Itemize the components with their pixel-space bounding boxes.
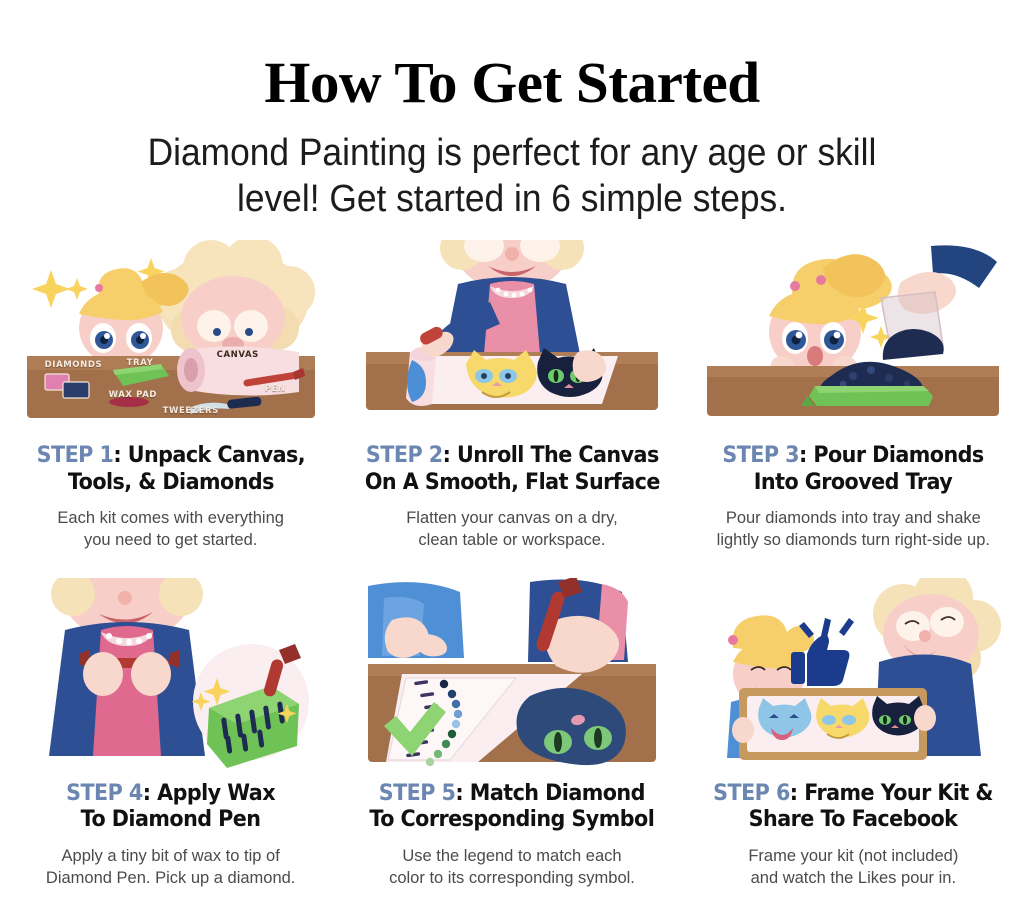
step-5-desc-line-1: Use the legend to match each xyxy=(402,847,621,865)
step-4-desc-line-1: Apply a tiny bit of wax to tip of xyxy=(62,847,280,865)
step-5-desc-line-2: color to its corresponding symbol. xyxy=(389,869,635,887)
step-2-number: STEP 2 xyxy=(366,442,443,468)
label-tray: TRAY xyxy=(127,358,154,368)
step-card-6: STEP 6: Frame Your Kit & Share To Facebo… xyxy=(683,574,1024,890)
step-6-desc-line-1: Frame your kit (not included) xyxy=(748,847,958,865)
step-2-scene xyxy=(362,240,662,432)
step-4-title: STEP 4: Apply Wax To Diamond Pen xyxy=(66,780,275,833)
step-card-3: STEP 3: Pour Diamonds Into Grooved Tray … xyxy=(683,236,1024,552)
step-5-separator: : xyxy=(456,780,464,806)
step-1-desc-line-1: Each kit comes with everything xyxy=(57,509,284,527)
step-4-title-line-1: Apply Wax xyxy=(157,780,275,806)
steps-grid: DIAMONDS TRAY WAX PAD TWEEZERS CANVAS PE… xyxy=(0,236,1024,889)
step-5-number: STEP 5 xyxy=(379,780,456,806)
step-4-separator: : xyxy=(143,780,151,806)
step-6-title-line-2: Share To Facebook xyxy=(749,806,958,832)
step-1-desc-line-2: you need to get started. xyxy=(84,531,257,549)
step-5-scene xyxy=(362,578,662,770)
step-card-2: STEP 2: Unroll The Canvas On A Smooth, F… xyxy=(341,236,682,552)
step-2-desc-line-1: Flatten your canvas on a dry, xyxy=(406,509,618,527)
page-subtitle: Diamond Painting is perfect for any age … xyxy=(36,130,988,223)
step-4-title-line-2: To Diamond Pen xyxy=(81,806,261,832)
step-2-title-line-2: On A Smooth, Flat Surface xyxy=(364,469,659,495)
step-6-illustration xyxy=(693,574,1014,770)
step-6-title: STEP 6: Frame Your Kit & Share To Facebo… xyxy=(713,780,993,833)
subtitle-line-2: level! Get started in 6 simple steps. xyxy=(36,176,988,222)
step-2-title: STEP 2: Unroll The Canvas On A Smooth, F… xyxy=(364,442,659,495)
step-6-description: Frame your kit (not included) and watch … xyxy=(748,845,958,890)
step-4-scene xyxy=(21,578,321,770)
step-1-title-line-2: Tools, & Diamonds xyxy=(68,469,274,495)
label-diamonds: DIAMONDS xyxy=(45,360,103,370)
step-5-title-line-1: Match Diamond xyxy=(470,780,645,806)
step-5-title-line-2: To Corresponding Symbol xyxy=(370,806,655,832)
step-3-separator: : xyxy=(799,442,807,468)
step-6-number: STEP 6 xyxy=(713,780,790,806)
step-1-title-line-1: Unpack Canvas, xyxy=(127,442,304,468)
step-3-description: Pour diamonds into tray and shake lightl… xyxy=(717,507,990,552)
page-header: How To Get Started Diamond Painting is p… xyxy=(0,0,1024,223)
step-3-desc-line-2: lightly so diamonds turn right-side up. xyxy=(717,531,990,549)
step-4-number: STEP 4 xyxy=(66,780,143,806)
step-2-title-line-1: Unroll The Canvas xyxy=(457,442,659,468)
infographic-page: How To Get Started Diamond Painting is p… xyxy=(0,0,1024,923)
step-4-illustration xyxy=(10,574,331,770)
step-5-description: Use the legend to match each color to it… xyxy=(389,845,635,890)
step-card-4: STEP 4: Apply Wax To Diamond Pen Apply a… xyxy=(0,574,341,890)
subtitle-line-1: Diamond Painting is perfect for any age … xyxy=(36,130,988,176)
step-5-title: STEP 5: Match Diamond To Corresponding S… xyxy=(370,780,655,833)
step-3-title-line-2: Into Grooved Tray xyxy=(754,469,952,495)
step-3-title: STEP 3: Pour Diamonds Into Grooved Tray xyxy=(723,442,984,495)
step-3-desc-line-1: Pour diamonds into tray and shake xyxy=(726,509,981,527)
step-1-title: STEP 1: Unpack Canvas, Tools, & Diamonds xyxy=(36,442,304,495)
step-2-illustration xyxy=(351,236,672,432)
step-5-illustration xyxy=(351,574,672,770)
step-6-separator: : xyxy=(790,780,798,806)
step-6-scene xyxy=(703,578,1003,770)
step-3-number: STEP 3 xyxy=(723,442,800,468)
step-2-description: Flatten your canvas on a dry, clean tabl… xyxy=(406,507,618,552)
label-canvas: CANVAS xyxy=(217,350,259,360)
step-3-title-line-1: Pour Diamonds xyxy=(814,442,984,468)
step-1-scene xyxy=(21,240,321,432)
page-title: How To Get Started xyxy=(0,54,1024,112)
step-1-separator: : xyxy=(113,442,121,468)
label-tweezers: TWEEZERS xyxy=(163,406,219,416)
step-card-1: DIAMONDS TRAY WAX PAD TWEEZERS CANVAS PE… xyxy=(0,236,341,552)
step-6-title-line-1: Frame Your Kit & xyxy=(804,780,993,806)
step-4-desc-line-2: Diamond Pen. Pick up a diamond. xyxy=(46,869,295,887)
step-6-desc-line-2: and watch the Likes pour in. xyxy=(751,869,956,887)
step-card-5: STEP 5: Match Diamond To Corresponding S… xyxy=(341,574,682,890)
label-wax-pad: WAX PAD xyxy=(109,390,157,400)
step-1-number: STEP 1 xyxy=(36,442,113,468)
step-2-desc-line-2: clean table or workspace. xyxy=(418,531,605,549)
step-2-separator: : xyxy=(442,442,450,468)
step-3-illustration xyxy=(693,236,1014,432)
step-1-illustration: DIAMONDS TRAY WAX PAD TWEEZERS CANVAS PE… xyxy=(10,236,331,432)
step-1-description: Each kit comes with everything you need … xyxy=(57,507,284,552)
step-4-description: Apply a tiny bit of wax to tip of Diamon… xyxy=(46,845,295,890)
step-3-scene xyxy=(703,240,1003,432)
label-pen: PEN xyxy=(265,384,286,394)
